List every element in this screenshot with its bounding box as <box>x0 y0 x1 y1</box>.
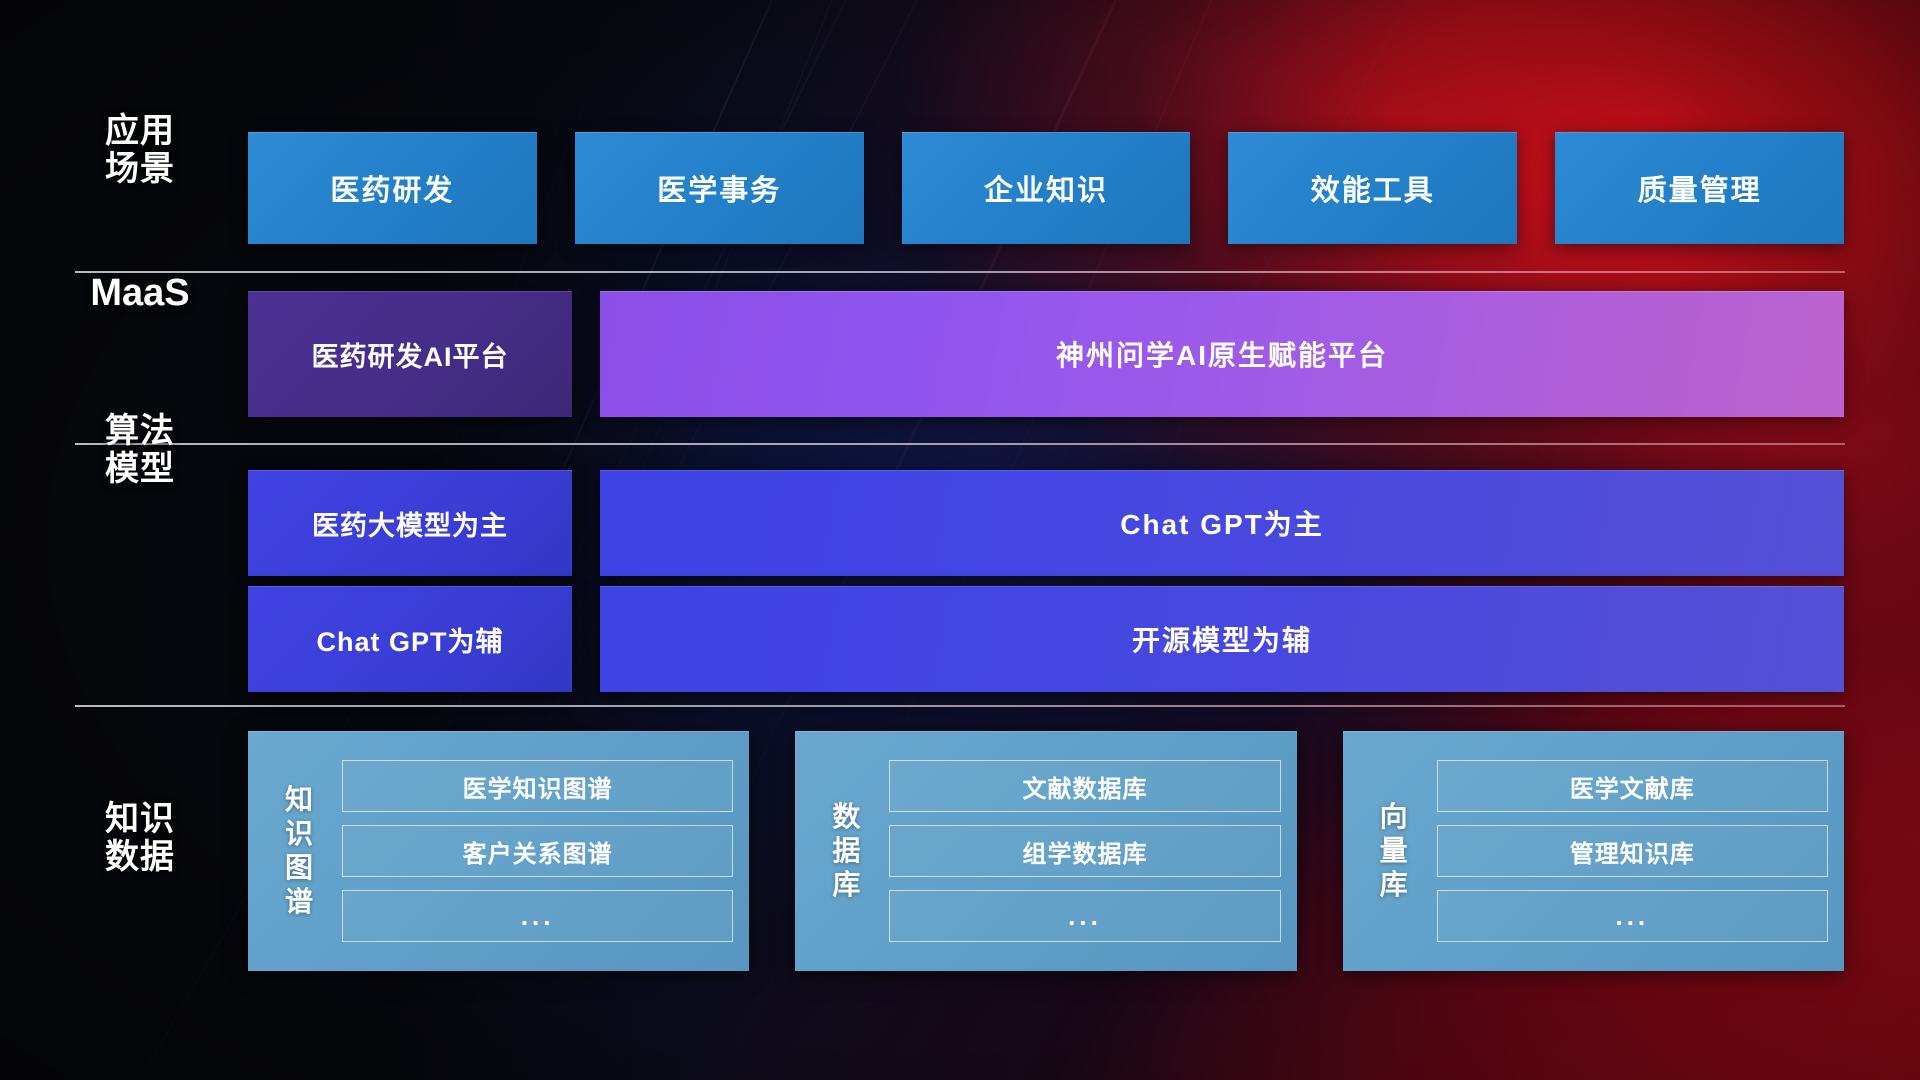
knowledge-group-panel: 知 识 图 谱 医学知识图谱 客户关系图谱 ... <box>248 731 749 971</box>
app-scenario-box[interactable]: 质量管理 <box>1555 132 1844 244</box>
knowledge-group-label-char: 向 <box>1380 800 1408 834</box>
knowledge-data-row: 知 识 图 谱 医学知识图谱 客户关系图谱 ... 数 据 库 文献数据库 组学… <box>248 731 1844 971</box>
knowledge-item-more[interactable]: ... <box>889 890 1280 942</box>
row-label-line: 模型 <box>75 450 205 488</box>
app-scenario-box[interactable]: 企业知识 <box>902 132 1191 244</box>
row-label-knowledge: 知识 数据 <box>75 800 205 876</box>
maas-platform-bar[interactable]: 神州问学AI原生赋能平台 <box>600 291 1844 417</box>
row-label-line: 算法 <box>75 412 205 450</box>
row-label-line: 应用 <box>75 112 205 150</box>
row-label-line: 场景 <box>75 150 205 188</box>
row-divider-maas <box>75 443 1845 445</box>
row-label-line: 知识 <box>75 800 205 838</box>
row-divider-algorithm <box>75 705 1845 707</box>
knowledge-group-label-char: 图 <box>285 851 313 885</box>
knowledge-group-label-char: 量 <box>1380 834 1408 868</box>
knowledge-group-label-char: 识 <box>285 817 313 851</box>
knowledge-item[interactable]: 客户关系图谱 <box>342 825 733 877</box>
maas-left-box[interactable]: 医药研发AI平台 <box>248 291 572 417</box>
knowledge-item[interactable]: 医学知识图谱 <box>342 760 733 812</box>
knowledge-group-label-char: 数 <box>832 800 860 834</box>
application-scenarios-row: 医药研发 医学事务 企业知识 效能工具 质量管理 <box>248 132 1844 244</box>
knowledge-item[interactable]: 组学数据库 <box>889 825 1280 877</box>
knowledge-group-label-char: 据 <box>832 834 860 868</box>
knowledge-group-label: 数 据 库 <box>809 745 883 957</box>
knowledge-item-more[interactable]: ... <box>342 890 733 942</box>
app-scenario-box[interactable]: 医药研发 <box>248 132 537 244</box>
knowledge-group-panel: 向 量 库 医学文献库 管理知识库 ... <box>1343 731 1844 971</box>
knowledge-group-label-char: 库 <box>832 868 860 902</box>
algorithm-left-box[interactable]: 医药大模型为主 <box>248 470 572 576</box>
row-label-algorithm: 算法 模型 <box>75 412 205 488</box>
knowledge-group-label-char: 谱 <box>285 885 313 919</box>
knowledge-item-list: 文献数据库 组学数据库 ... <box>883 745 1280 957</box>
knowledge-item[interactable]: 文献数据库 <box>889 760 1280 812</box>
row-label-line: 数据 <box>75 838 205 876</box>
row-divider-applications <box>75 271 1845 273</box>
algorithm-left-box[interactable]: Chat GPT为辅 <box>248 586 572 692</box>
knowledge-group-label-char: 知 <box>285 783 313 817</box>
row-label-applications: 应用 场景 <box>75 112 205 188</box>
app-scenario-box[interactable]: 效能工具 <box>1228 132 1517 244</box>
knowledge-item[interactable]: 管理知识库 <box>1437 825 1828 877</box>
knowledge-item[interactable]: 医学文献库 <box>1437 760 1828 812</box>
algorithm-wide-box[interactable]: Chat GPT为主 <box>600 470 1844 576</box>
knowledge-group-label: 向 量 库 <box>1357 745 1431 957</box>
app-scenario-box[interactable]: 医学事务 <box>575 132 864 244</box>
knowledge-group-label: 知 识 图 谱 <box>262 745 336 957</box>
knowledge-item-list: 医学知识图谱 客户关系图谱 ... <box>336 745 733 957</box>
algorithm-wide-box[interactable]: 开源模型为辅 <box>600 586 1844 692</box>
knowledge-item-list: 医学文献库 管理知识库 ... <box>1431 745 1828 957</box>
row-label-maas: MaaS <box>75 272 205 315</box>
knowledge-group-label-char: 库 <box>1380 868 1408 902</box>
knowledge-group-panel: 数 据 库 文献数据库 组学数据库 ... <box>795 731 1296 971</box>
knowledge-item-more[interactable]: ... <box>1437 890 1828 942</box>
